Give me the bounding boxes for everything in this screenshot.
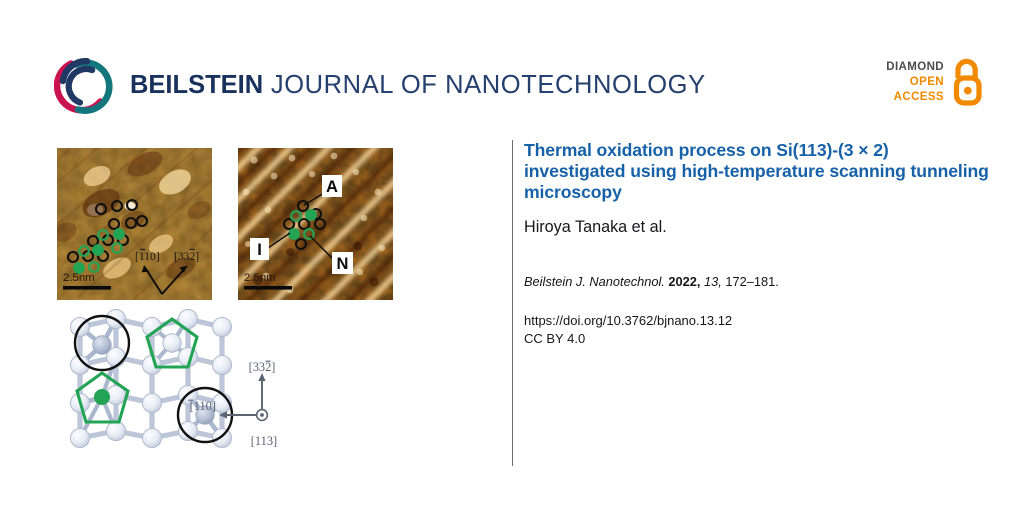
svg-text:[332]: [332]: [249, 360, 276, 374]
svg-text:N: N: [337, 255, 349, 273]
doi-and-license: https://doi.org/10.3762/bjnano.13.12 CC …: [524, 312, 994, 348]
open-access-wordmark: DIAMOND OPEN ACCESS: [886, 60, 944, 105]
citation-journal: Beilstein J. Nanotechnol.: [524, 274, 665, 289]
beilstein-spiral-logo-icon: [54, 58, 116, 116]
oa-line-open: OPEN: [886, 75, 944, 90]
svg-text:[110]: [110]: [190, 399, 216, 413]
article-citation: Beilstein J. Nanotechnol. 2022, 13, 172–…: [524, 273, 994, 290]
oa-line-access: ACCESS: [886, 90, 944, 105]
svg-text:[332]: [332]: [174, 250, 199, 263]
svg-text:[113]: [113]: [251, 434, 277, 448]
article-metadata-column: Thermal oxidation process on Si(113)-(3 …: [524, 140, 994, 348]
oxygen-atom-marker: [94, 389, 110, 405]
scale-bar-label-right: 2.5nm: [244, 272, 276, 284]
journal-header: BEILSTEIN JOURNAL OF NANOTECHNOLOGY DIAM…: [0, 0, 1024, 130]
annotation-i: I: [250, 238, 269, 260]
citation-year: 2022,: [668, 274, 700, 289]
open-access-unlocked-padlock-icon: [948, 58, 984, 106]
svg-text:A: A: [326, 178, 338, 196]
annotation-n: N: [332, 252, 353, 274]
journal-title-bold: BEILSTEIN: [130, 71, 263, 99]
svg-text:[110]: [110]: [135, 250, 160, 263]
annotation-a: A: [322, 175, 342, 197]
citation-volume: 13,: [704, 274, 722, 289]
vertical-divider: [512, 140, 513, 466]
journal-title: BEILSTEIN JOURNAL OF NANOTECHNOLOGY: [130, 71, 706, 100]
article-title: Thermal oxidation process on Si(113)-(3 …: [524, 140, 994, 203]
scale-bar-label-left: 2.5nm: [63, 272, 95, 284]
stm-image-left: [110] [332] 2.5nm: [57, 148, 212, 300]
svg-text:I: I: [257, 241, 262, 259]
journal-title-light: JOURNAL OF NANOTECHNOLOGY: [263, 71, 706, 99]
si113-atomic-structure-model: [332] [110] [113]: [50, 305, 340, 465]
figure-panel: [110] [332] 2.5nm: [0, 130, 500, 480]
diamond-open-access-badge: DIAMOND OPEN ACCESS: [866, 58, 984, 110]
citation-pages: 172–181.: [725, 274, 778, 289]
doi-link[interactable]: https://doi.org/10.3762/bjnano.13.12: [524, 312, 994, 330]
oa-line-diamond: DIAMOND: [886, 60, 944, 75]
graphical-abstract-page: BEILSTEIN JOURNAL OF NANOTECHNOLOGY DIAM…: [0, 0, 1024, 512]
license-label: CC BY 4.0: [524, 330, 994, 348]
stm-image-right: A I N 2.5nm: [238, 148, 393, 300]
article-authors: Hiroya Tanaka et al.: [524, 217, 994, 237]
